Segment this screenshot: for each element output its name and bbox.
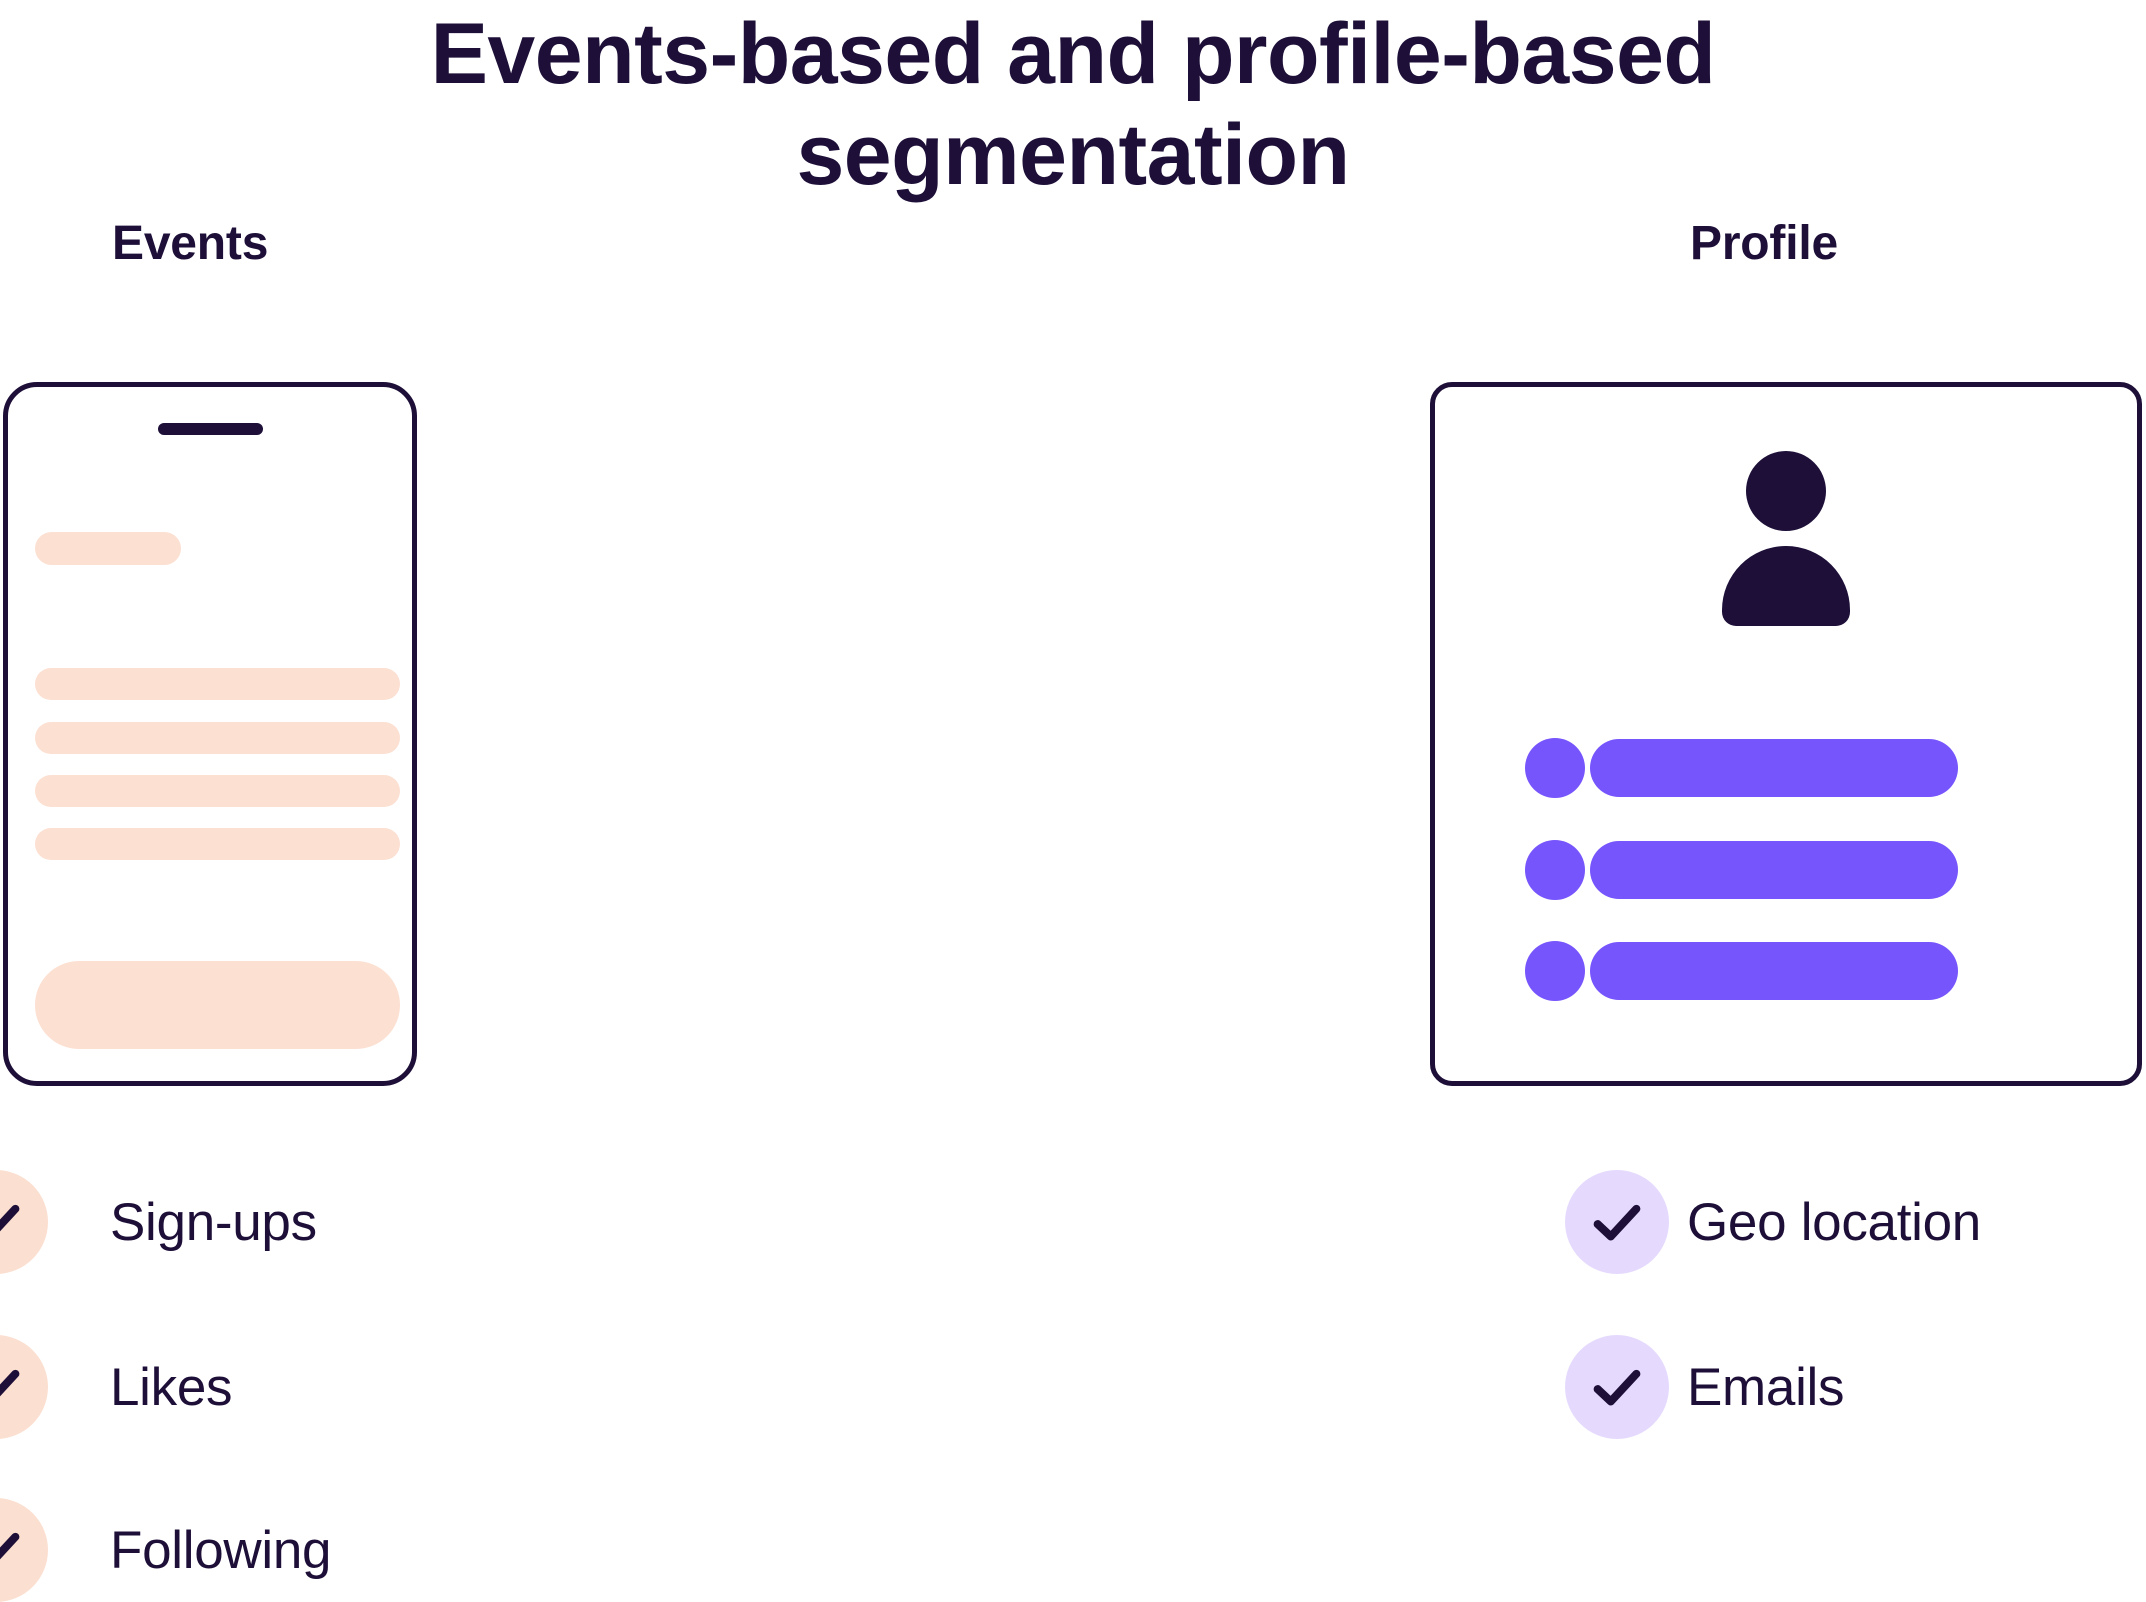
events-phone-mockup: [3, 382, 417, 1086]
phone-placeholder-list-bar-2: [35, 722, 400, 754]
phone-placeholder-cta-block: [35, 961, 400, 1049]
events-checklist-label: Following: [110, 1520, 331, 1581]
profile-card-mockup: [1430, 382, 2142, 1086]
phone-placeholder-short-title-bar: [35, 532, 181, 565]
profile-checklist-item-emails: Emails: [1565, 1335, 1844, 1439]
bullet-dot-icon: [1525, 738, 1585, 798]
phone-placeholder-list-bar-3: [35, 775, 400, 807]
bullet-dot-icon: [1525, 840, 1585, 900]
profile-checklist-label: Geo location: [1687, 1192, 1981, 1253]
events-column-heading: Events: [112, 216, 268, 271]
bullet-dot-icon: [1525, 941, 1585, 1001]
illustration-stage: Events-based and profile-based segmentat…: [0, 0, 2146, 1600]
user-avatar-icon: [1435, 451, 2137, 641]
events-checklist-label: Sign-ups: [110, 1192, 317, 1253]
check-icon: [0, 1335, 48, 1439]
profile-placeholder-bar-3: [1590, 942, 1958, 1000]
events-checklist-item-sign-ups: Sign-ups: [0, 1170, 317, 1274]
check-icon: [0, 1498, 48, 1602]
page-title: Events-based and profile-based segmentat…: [0, 4, 2146, 205]
phone-placeholder-list-bar-4: [35, 828, 400, 860]
events-checklist-label: Likes: [110, 1357, 232, 1418]
check-icon: [0, 1170, 48, 1274]
profile-placeholder-bar-1: [1590, 739, 1958, 797]
profile-checklist-label: Emails: [1687, 1357, 1844, 1418]
check-icon: [1565, 1170, 1669, 1274]
profile-column-heading: Profile: [1690, 216, 1838, 271]
avatar-body-shape: [1722, 546, 1850, 626]
profile-checklist-item-geo-location: Geo location: [1565, 1170, 1981, 1274]
phone-speaker-notch: [158, 423, 263, 435]
profile-placeholder-bar-2: [1590, 841, 1958, 899]
check-icon: [1565, 1335, 1669, 1439]
avatar-head-shape: [1746, 451, 1826, 531]
events-checklist-item-likes: Likes: [0, 1335, 232, 1439]
events-checklist-item-following: Following: [0, 1498, 331, 1602]
phone-placeholder-list-bar-1: [35, 668, 400, 700]
